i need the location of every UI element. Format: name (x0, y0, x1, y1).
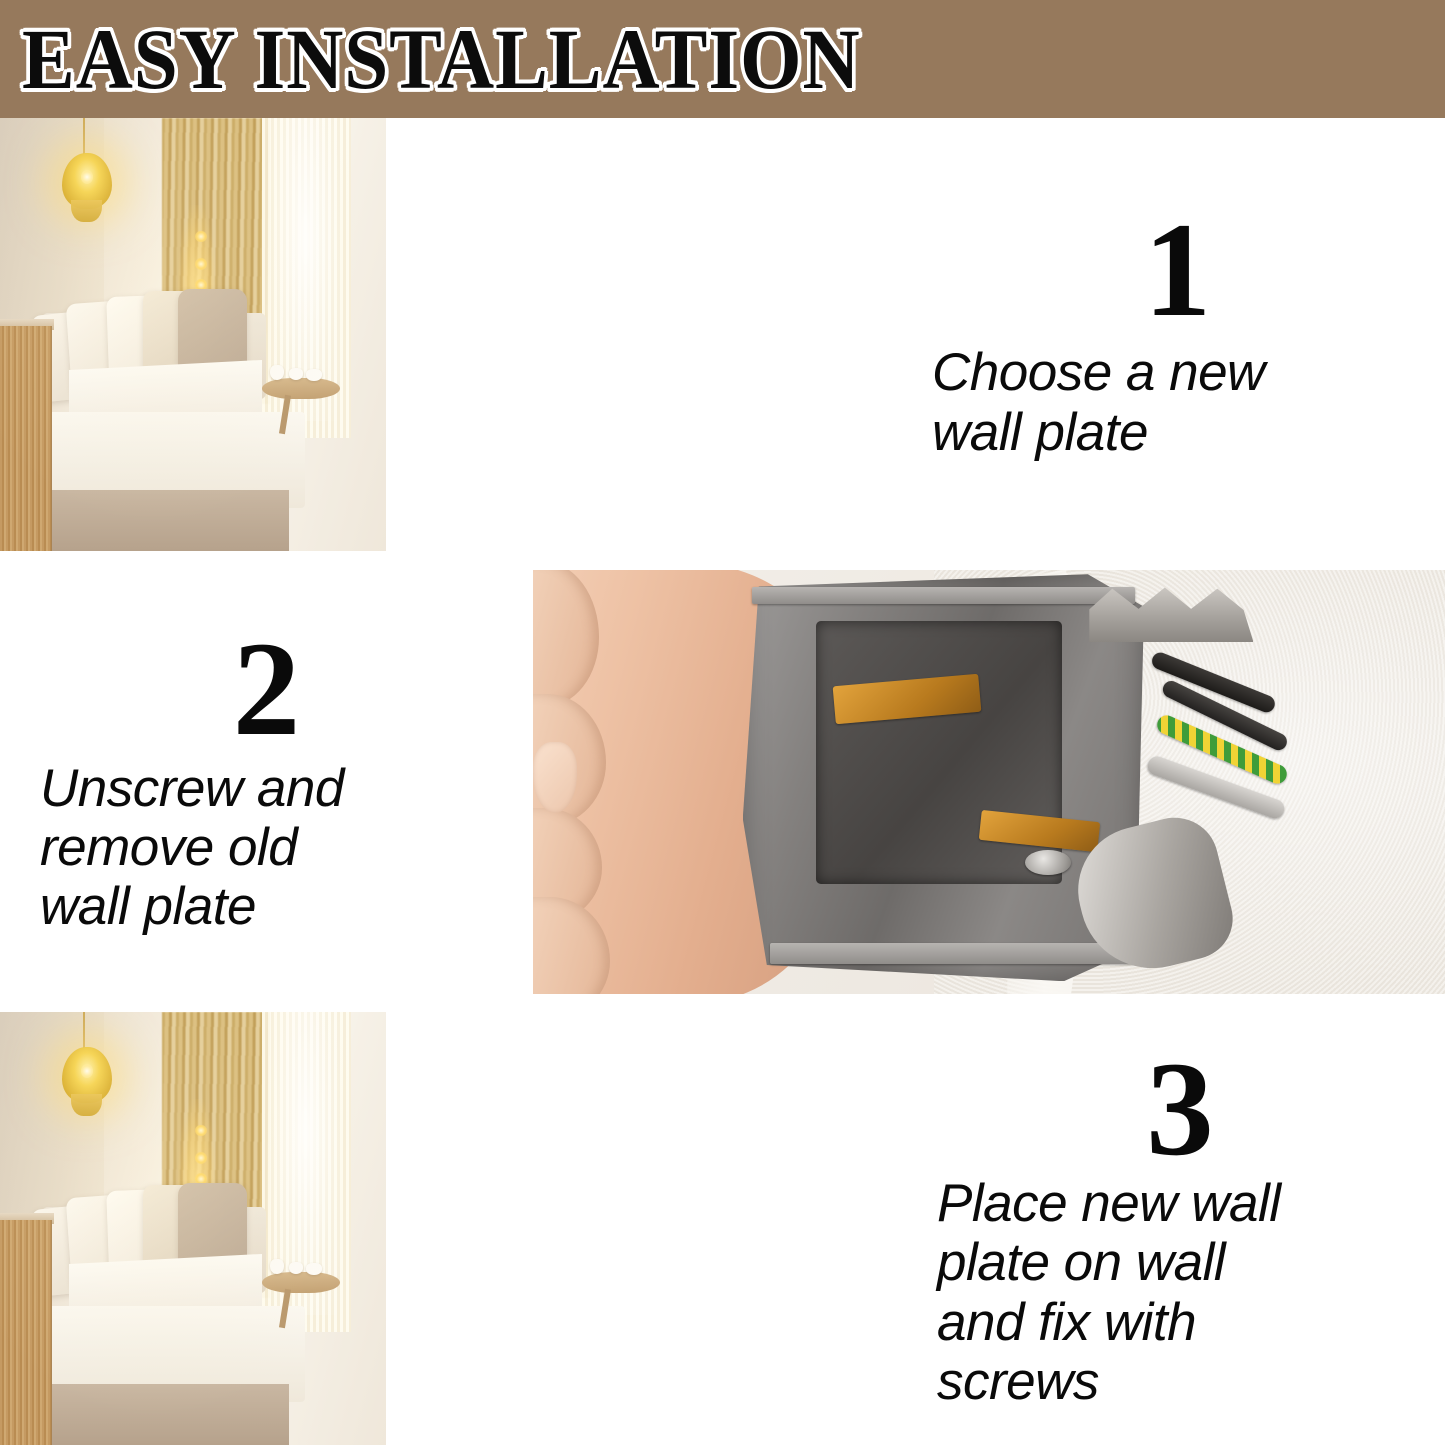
header-banner: EASY INSTALLATION (0, 0, 1445, 118)
step-3-caption-line: plate on wall (937, 1233, 1433, 1292)
step-3-caption-line: Place new wall (937, 1174, 1433, 1233)
mounting-rail (752, 587, 1135, 604)
step-1-text: 1 Choose a new wall plate (910, 118, 1445, 551)
living-room-photo (0, 118, 386, 551)
step-2-text: 2 Unscrew and remove old wall plate (0, 551, 533, 1012)
finger (533, 897, 610, 994)
room-light-vignette (0, 1012, 386, 1445)
living-room-photo (0, 1012, 386, 1445)
step-3-caption: Place new wall plate on wall and fix wit… (927, 1174, 1433, 1411)
step-3-text: 3 Place new wall plate on wall and fix w… (915, 1012, 1445, 1445)
step-1-number: 1 (1144, 207, 1212, 335)
step-2-caption-line: remove old (40, 818, 521, 877)
room-light-vignette (0, 118, 386, 551)
step-2-number: 2 (233, 626, 301, 754)
step-2-row: 2 Unscrew and remove old wall plate (0, 551, 1445, 1012)
step-1-row: 1 Choose a new wall plate (0, 118, 1445, 551)
switch-mechanism-photo (533, 570, 1445, 994)
thumbnail (533, 742, 577, 813)
terminal-screw (1025, 850, 1071, 875)
step-1-caption: Choose a new wall plate (922, 343, 1433, 462)
easy-installation-infographic: EASY INSTALLATION (0, 0, 1445, 1445)
step-3-caption-line: and fix with (937, 1293, 1433, 1352)
step-3-number: 3 (1146, 1046, 1214, 1174)
step-2-caption-line: wall plate (40, 877, 521, 936)
step-3-row: 3 Place new wall plate on wall and fix w… (0, 1012, 1445, 1445)
step-1-caption-line: wall plate (932, 403, 1433, 462)
step-2-caption-line: Unscrew and (40, 759, 521, 818)
step-2-caption: Unscrew and remove old wall plate (12, 759, 521, 937)
step-3-caption-line: screws (937, 1352, 1433, 1411)
page-title: EASY INSTALLATION (22, 13, 861, 105)
step-1-caption-line: Choose a new (932, 343, 1433, 402)
finger (533, 570, 599, 707)
mounting-rail (770, 943, 1135, 964)
